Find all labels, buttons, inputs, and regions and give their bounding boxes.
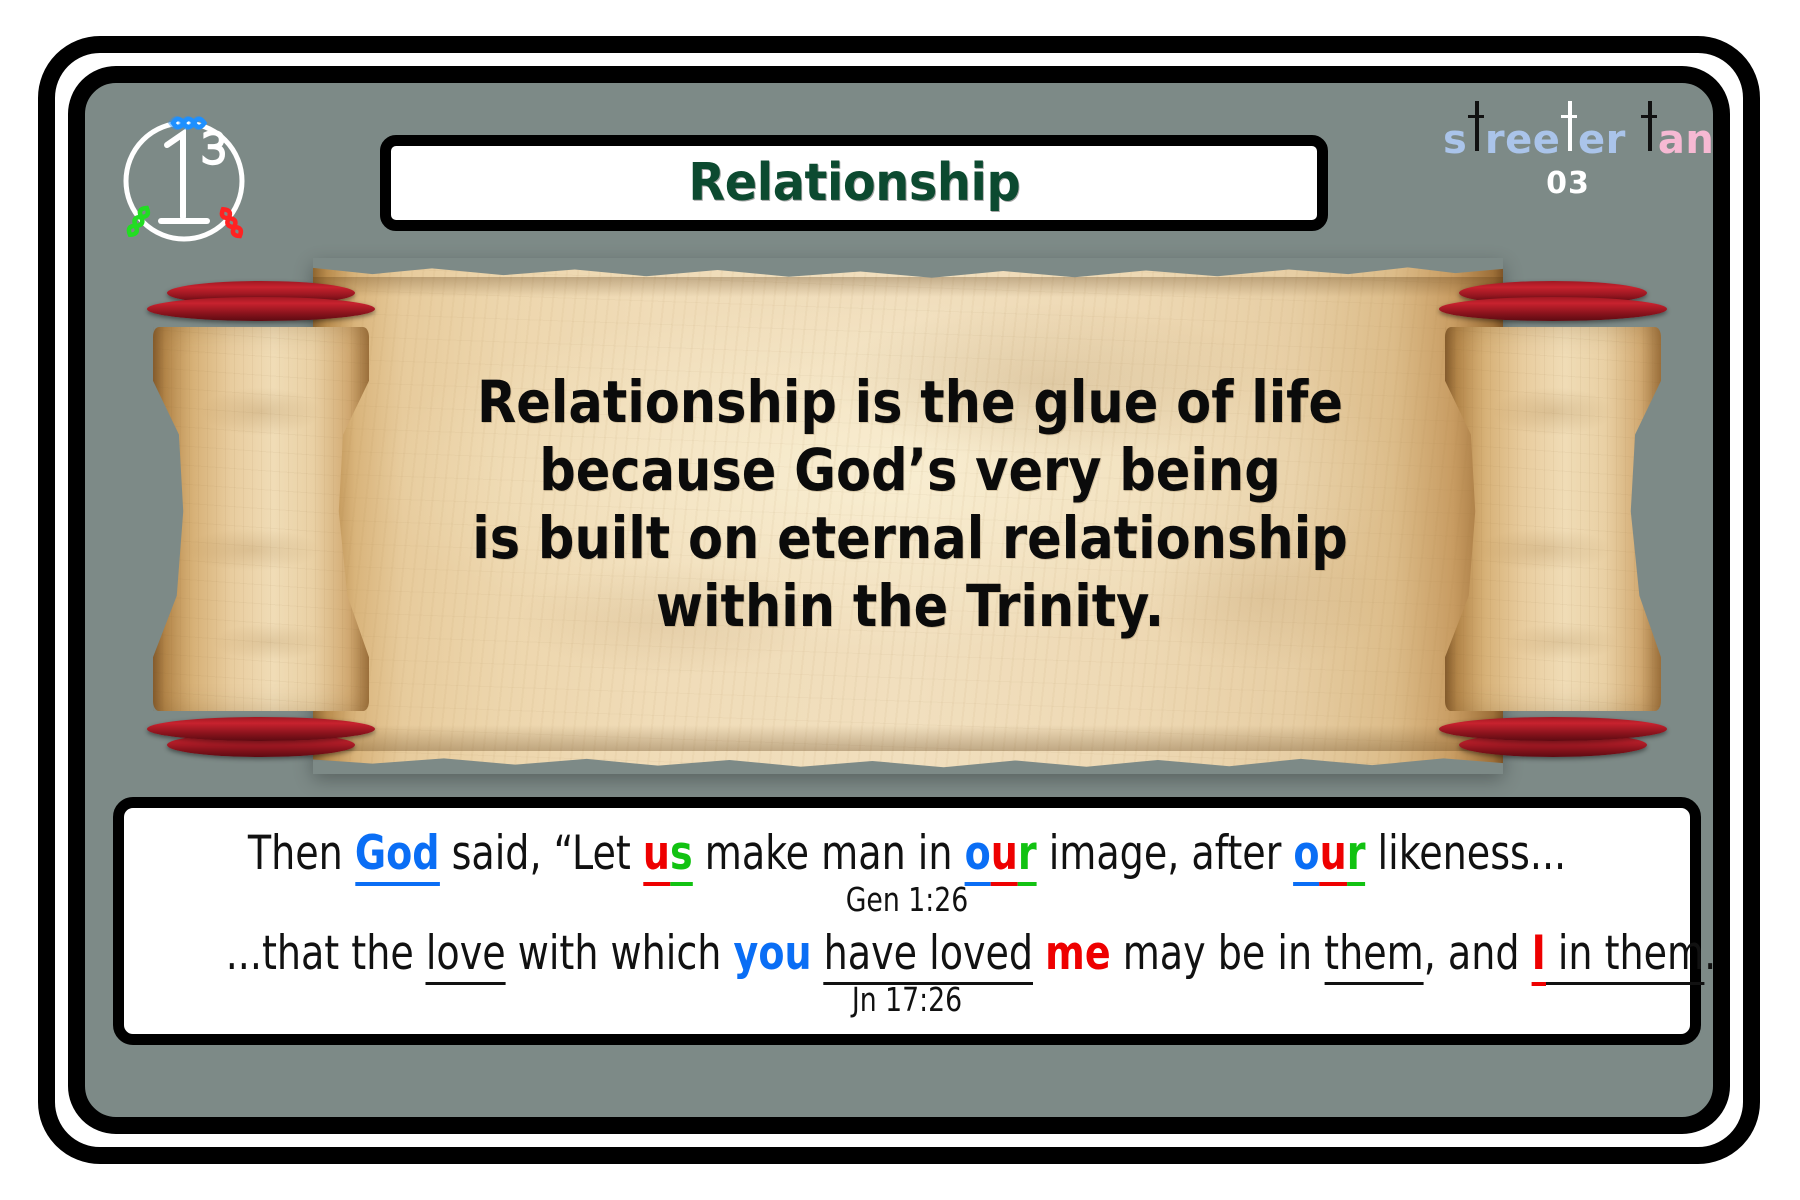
verse-token: u <box>643 826 670 886</box>
brand-name: sreeer ang <box>1443 113 1693 160</box>
verse-token: r <box>1018 826 1037 886</box>
brand-letters-er: er <box>1578 117 1626 163</box>
scroll-cap-ring <box>1439 717 1667 741</box>
scroll-roll-left-texture <box>153 327 369 711</box>
cross-t-icon-3 <box>1641 113 1658 153</box>
scroll-cap-ring <box>1439 297 1667 321</box>
verse-token: u <box>1320 826 1347 886</box>
scroll-cap-ring <box>147 717 375 741</box>
parchment-torn-bottom-edge <box>313 748 1503 774</box>
verse-reference-jn-17-26: Jn 17:26 <box>226 979 1589 1020</box>
verse-token: love <box>426 926 506 985</box>
scroll-roll-right <box>1437 281 1669 757</box>
slide-number: 03 <box>1443 166 1693 201</box>
verse-token: . <box>1704 926 1716 981</box>
verse-token: , and <box>1424 926 1532 981</box>
scroll-roll-left <box>145 281 377 757</box>
verse-token: have loved <box>824 926 1033 985</box>
verse-token: u <box>991 826 1018 886</box>
scroll-cap-right-top <box>1437 281 1669 331</box>
page-title: Relationship <box>688 153 1020 213</box>
verse-token: me <box>1045 926 1110 981</box>
verse-token: make man in <box>693 826 965 881</box>
scroll-cap-left-top <box>145 281 377 331</box>
slide-title-box: Relationship <box>380 135 1328 231</box>
verse-token: r <box>1347 826 1366 886</box>
scroll-cap-right-bottom <box>1437 707 1669 757</box>
brand-letters-ang: ang <box>1658 117 1730 163</box>
verse-token: you <box>734 926 812 981</box>
verse-token: ...that the <box>226 926 426 981</box>
verse-token: with which <box>506 926 734 981</box>
verse-token: God <box>355 826 440 886</box>
verse-token: o <box>1293 826 1319 886</box>
parchment-top-shadow <box>313 277 1503 297</box>
parchment-torn-top-edge <box>313 258 1503 284</box>
scroll-roll-left-body <box>153 327 369 711</box>
verse-token <box>812 926 824 981</box>
verse-token: I <box>1532 926 1546 986</box>
verse-token: o <box>965 826 991 886</box>
verse-token: may be in <box>1111 926 1325 981</box>
verse-token: said, “Let <box>439 826 642 881</box>
verse-token: likeness... <box>1365 826 1566 881</box>
scripture-quote-box: Then God said, “Let us make man in our i… <box>113 797 1701 1045</box>
verse-text-gen-1-26: Then God said, “Let us make man in our i… <box>226 830 1589 879</box>
cross-t-icon-2 <box>1561 113 1578 153</box>
verse-reference-gen-1-26: Gen 1:26 <box>226 879 1589 920</box>
verse-token <box>1033 926 1045 981</box>
verse-token: them <box>1324 926 1424 985</box>
scroll-illustration: Relationship is the glue of life because… <box>85 251 1729 781</box>
scroll-roll-right-texture <box>1445 327 1661 711</box>
verse-text-jn-17-26: ...that the love with which you have lov… <box>226 930 1589 979</box>
parchment-bottom-shadow <box>313 725 1503 751</box>
verse-token: Then <box>248 826 355 881</box>
logo-exponent-three: 3 <box>201 124 228 173</box>
scroll-roll-right-body <box>1445 327 1661 711</box>
cross-t-icon-1 <box>1468 113 1485 153</box>
scroll-cap-left-bottom <box>145 707 377 757</box>
scroll-message: Relationship is the glue of life because… <box>430 369 1389 640</box>
slide-card-outer-frame: 3 Relationship <box>38 36 1760 1164</box>
slide-card-inner-frame: 3 Relationship <box>68 66 1730 1134</box>
infinity-node-left-icon <box>127 206 150 237</box>
brand-letter-s: s <box>1443 117 1467 163</box>
one-cubed-trinity-logo: 3 <box>107 101 261 253</box>
scroll-cap-ring <box>147 297 375 321</box>
verse-token: image, after <box>1037 826 1294 881</box>
brand-letters-ree: ree <box>1485 117 1560 163</box>
brand-mark: sreeer ang 03 <box>1443 113 1693 201</box>
verse-token: in them <box>1546 926 1704 985</box>
slide-stage: 3 Relationship <box>85 83 1729 1133</box>
verse-token: s <box>670 826 693 886</box>
